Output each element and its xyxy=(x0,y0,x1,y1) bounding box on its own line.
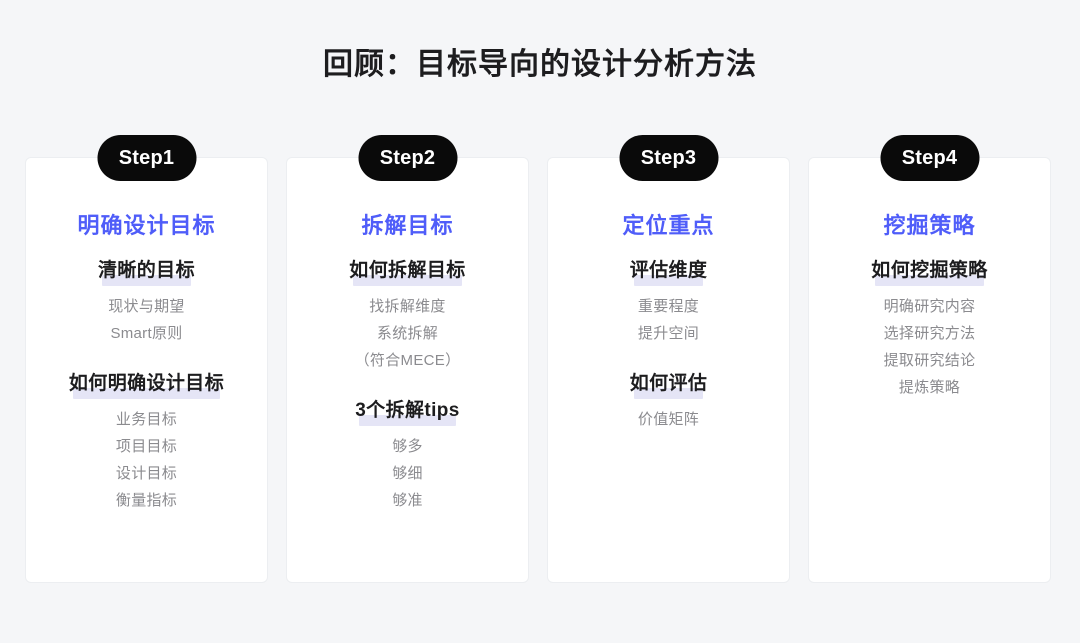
section-heading-label: 如何明确设计目标 xyxy=(69,373,224,394)
list-item: （符合MECE） xyxy=(297,347,518,374)
list-item: 价值矩阵 xyxy=(558,406,779,433)
list-item: 项目目标 xyxy=(36,433,257,460)
list-item: 明确研究内容 xyxy=(819,293,1040,320)
section-items: 明确研究内容 选择研究方法 提取研究结论 提炼策略 xyxy=(819,293,1040,401)
list-item: 找拆解维度 xyxy=(297,293,518,320)
section-items: 价值矩阵 xyxy=(558,406,779,433)
section-heading: 评估维度 xyxy=(628,258,710,284)
step-card-4-body: 挖掘策略 如何挖掘策略 明确研究内容 选择研究方法 提取研究结论 提炼策略 xyxy=(809,158,1050,401)
step-badge-2: Step2 xyxy=(358,135,457,181)
step-card-2-title: 拆解目标 xyxy=(297,211,518,241)
step-card-1-title: 明确设计目标 xyxy=(36,211,257,241)
section-heading: 如何拆解目标 xyxy=(347,258,467,284)
list-item: 重要程度 xyxy=(558,293,779,320)
list-item: 设计目标 xyxy=(36,460,257,487)
list-item: 够准 xyxy=(297,487,518,514)
section-heading-label: 如何评估 xyxy=(630,373,708,394)
step-card-2-section-2: 3个拆解tips 够多 够细 够准 xyxy=(297,398,518,514)
step-card-2[interactable]: Step2 拆解目标 如何拆解目标 找拆解维度 系统拆解 （符合MECE） xyxy=(286,157,529,583)
list-item: 衡量指标 xyxy=(36,487,257,514)
step-card-3-section-2: 如何评估 价值矩阵 xyxy=(558,371,779,433)
step-card-1-section-2: 如何明确设计目标 业务目标 项目目标 设计目标 衡量指标 xyxy=(36,371,257,514)
slide-root: 回顾：目标导向的设计分析方法 Step1 明确设计目标 清晰的目标 现状与期望 … xyxy=(0,0,1080,643)
step-card-1-section-1: 清晰的目标 现状与期望 Smart原则 xyxy=(36,258,257,347)
section-heading: 如何挖掘策略 xyxy=(869,258,989,284)
section-heading-label: 如何拆解目标 xyxy=(349,260,465,281)
list-item: 系统拆解 xyxy=(297,320,518,347)
list-item: 提取研究结论 xyxy=(819,347,1040,374)
section-heading-label: 3个拆解tips xyxy=(355,400,460,421)
section-heading: 如何明确设计目标 xyxy=(67,371,226,397)
step-card-4[interactable]: Step4 挖掘策略 如何挖掘策略 明确研究内容 选择研究方法 提取研究结论 提… xyxy=(808,157,1051,583)
step-card-3-title: 定位重点 xyxy=(558,211,779,241)
list-item: Smart原则 xyxy=(36,320,257,347)
step-badge-3: Step3 xyxy=(619,135,718,181)
section-items: 够多 够细 够准 xyxy=(297,433,518,514)
step-card-1-body: 明确设计目标 清晰的目标 现状与期望 Smart原则 如何明确设计目标 xyxy=(26,158,267,514)
section-heading: 如何评估 xyxy=(628,371,710,397)
step-card-4-section-1: 如何挖掘策略 明确研究内容 选择研究方法 提取研究结论 提炼策略 xyxy=(819,258,1040,401)
step-card-4-title: 挖掘策略 xyxy=(819,211,1040,241)
list-item: 选择研究方法 xyxy=(819,320,1040,347)
section-heading-label: 如何挖掘策略 xyxy=(871,260,987,281)
list-item: 够多 xyxy=(297,433,518,460)
step-card-1[interactable]: Step1 明确设计目标 清晰的目标 现状与期望 Smart原则 xyxy=(25,157,268,583)
section-heading: 3个拆解tips xyxy=(353,398,462,424)
step-card-3-body: 定位重点 评估维度 重要程度 提升空间 如何评估 xyxy=(548,158,789,433)
step-badge-4: Step4 xyxy=(880,135,979,181)
list-item: 业务目标 xyxy=(36,406,257,433)
step-card-row: Step1 明确设计目标 清晰的目标 现状与期望 Smart原则 xyxy=(25,157,1055,583)
list-item: 提升空间 xyxy=(558,320,779,347)
step-card-2-section-1: 如何拆解目标 找拆解维度 系统拆解 （符合MECE） xyxy=(297,258,518,374)
section-items: 重要程度 提升空间 xyxy=(558,293,779,347)
step-card-2-body: 拆解目标 如何拆解目标 找拆解维度 系统拆解 （符合MECE） xyxy=(287,158,528,514)
list-item: 提炼策略 xyxy=(819,374,1040,401)
section-heading-label: 评估维度 xyxy=(630,260,708,281)
step-card-3[interactable]: Step3 定位重点 评估维度 重要程度 提升空间 如 xyxy=(547,157,790,583)
section-items: 业务目标 项目目标 设计目标 衡量指标 xyxy=(36,406,257,514)
list-item: 现状与期望 xyxy=(36,293,257,320)
step-badge-1: Step1 xyxy=(97,135,196,181)
section-heading-label: 清晰的目标 xyxy=(98,260,195,281)
list-item: 够细 xyxy=(297,460,518,487)
section-items: 找拆解维度 系统拆解 （符合MECE） xyxy=(297,293,518,374)
step-card-3-section-1: 评估维度 重要程度 提升空间 xyxy=(558,258,779,347)
section-heading: 清晰的目标 xyxy=(96,258,197,284)
section-items: 现状与期望 Smart原则 xyxy=(36,293,257,347)
page-title: 回顾：目标导向的设计分析方法 xyxy=(0,44,1080,86)
